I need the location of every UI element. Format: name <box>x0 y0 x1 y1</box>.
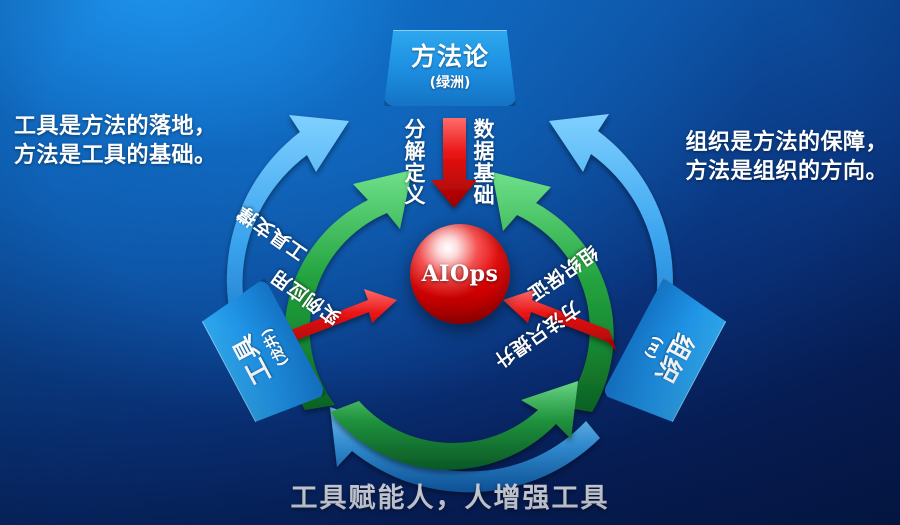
label-org-ensure: 组织保证 <box>523 240 604 308</box>
node-methodology-subtitle: (绿洲) <box>430 72 471 92</box>
node-organization-shape: 组织 (π) <box>601 278 730 430</box>
node-methodology-shape: 方法论 (绿洲) <box>384 30 516 106</box>
label-decompose: 分解定义 <box>403 118 424 206</box>
caption-right: 组织是方法的保障， 方法是组织的方向。 <box>685 128 888 187</box>
node-methodology-title: 方法论 <box>411 44 489 70</box>
caption-left: 工具是方法的落地， 方法是工具的基础。 <box>14 112 217 171</box>
node-organization[interactable]: 组织 (π) <box>601 278 730 430</box>
caption-bottom: 工具赋能人，人增强工具 <box>0 476 900 515</box>
label-data-base: 数据基础 <box>472 118 493 206</box>
core-label: AIOps <box>422 261 499 287</box>
label-method-lift: 方法只提升 <box>489 296 586 375</box>
node-methodology[interactable]: 方法论 (绿洲) <box>384 30 516 106</box>
label-tool-support: 工具支撑 <box>230 200 311 268</box>
diagram-canvas: 方法论 (绿洲) 工具 (龙井) 组织 (π) AIOps 分解定义 数据基础 … <box>0 0 900 525</box>
core-sphere[interactable]: AIOps <box>410 224 510 324</box>
green-arc-bottom <box>330 381 578 470</box>
